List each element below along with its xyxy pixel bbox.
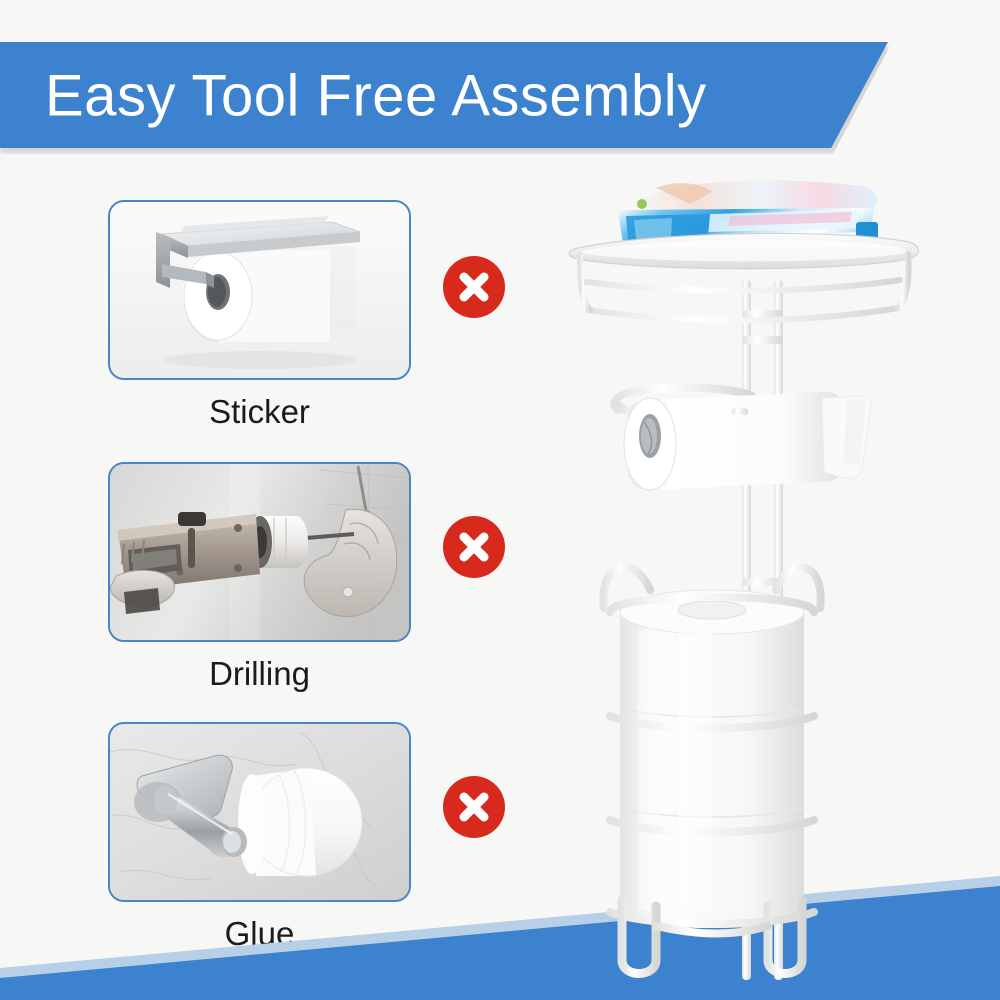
page-title: Easy Tool Free Assembly [45, 63, 707, 130]
reject-icon [443, 776, 505, 838]
photo-frame-drilling [108, 462, 411, 642]
comparison-item-drilling: Drilling [108, 462, 411, 694]
infographic-canvas: Easy Tool Free Assembly [0, 0, 1000, 1000]
reject-icon [443, 516, 505, 578]
photo-glue [110, 724, 409, 900]
comparison-label-sticker: Sticker [108, 392, 411, 432]
comparison-item-glue: Glue [108, 722, 411, 954]
photo-frame-glue [108, 722, 411, 902]
comparison-label-drilling: Drilling [108, 654, 411, 694]
comparison-label-glue: Glue [108, 914, 411, 954]
reject-icon [443, 256, 505, 318]
header-banner: Easy Tool Free Assembly [0, 42, 890, 150]
product-image [560, 160, 960, 990]
photo-drilling [110, 464, 409, 640]
photo-sticker [110, 202, 409, 378]
comparison-item-sticker: Sticker [108, 200, 411, 432]
photo-frame-sticker [108, 200, 411, 380]
